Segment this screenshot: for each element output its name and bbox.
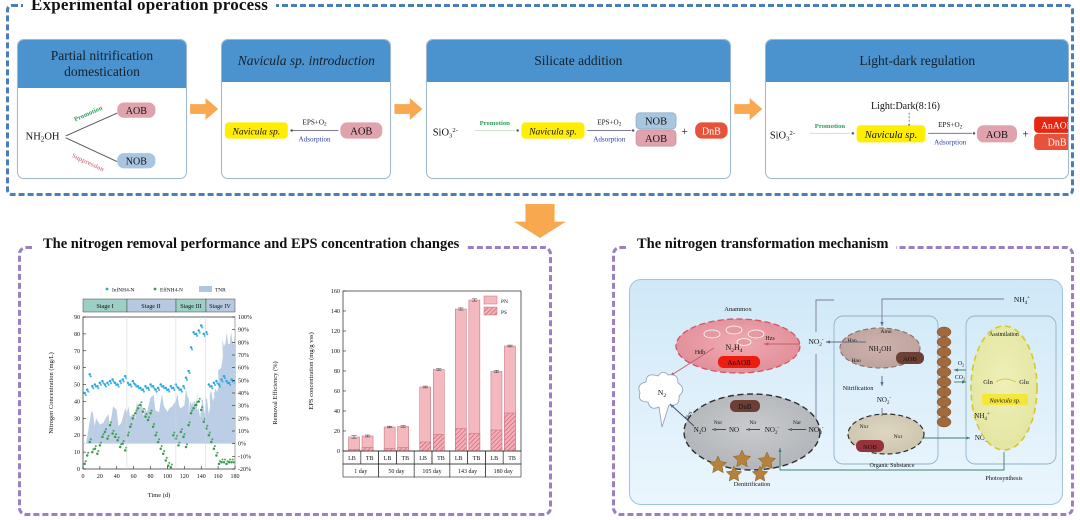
svg-text:0: 0 — [77, 467, 80, 473]
label-o2: O2 — [958, 361, 964, 368]
eps-concentration-chart[interactable]: LBTB1 dayLBTB50 dayLBTB105 dayLBTB143 da… — [299, 279, 541, 507]
svg-text:90: 90 — [74, 315, 80, 321]
denitrification-group: DnB N2O NO NO2- Nor Nir Nar Nos — [670, 394, 820, 488]
svg-text:90%: 90% — [238, 328, 249, 334]
svg-text:60: 60 — [334, 389, 340, 395]
label-light-dark: Light:Dark(8:16) — [871, 101, 940, 112]
step-header-navicula: Navicula sp. introduction — [222, 40, 390, 82]
svg-text:140: 140 — [197, 474, 206, 480]
mechanism-svg: Anammox N2H4 Hzs Hdh AnAOB N2 DnB N2O — [630, 280, 1063, 505]
svg-text:1 day: 1 day — [354, 469, 367, 475]
label-gln: Gln — [983, 379, 993, 386]
svg-text:160: 160 — [331, 289, 340, 295]
stage-label-2: Stage II — [141, 303, 160, 310]
svg-text:30%: 30% — [238, 404, 249, 410]
diagram-silicate-addition: SiO32- Promotion Navicula sp. EPS+O2 Ads… — [427, 84, 730, 176]
dot-1 — [516, 129, 518, 131]
label-denitrification: Denitrification — [734, 481, 770, 488]
stage-label-1: Stage I — [96, 303, 113, 310]
pill-dnb-mech-label: DnB — [738, 403, 752, 411]
label-nxr-2: Nxr — [894, 434, 903, 440]
svg-text:TB: TB — [508, 456, 516, 462]
arrow-nh4-to-nitrification — [882, 299, 1004, 326]
svg-text:20: 20 — [97, 474, 103, 480]
pill-aob-label: AOB — [126, 106, 147, 117]
process-step-light-dark-regulation[interactable]: Light-dark regulation Light:Dark(8:16) S… — [765, 39, 1069, 179]
svg-text:0%: 0% — [238, 442, 246, 448]
experimental-process-section: Experimental operation process Partial n… — [6, 4, 1074, 196]
step-title-line2: domestication — [51, 64, 153, 80]
svg-text:TB: TB — [401, 456, 409, 462]
svg-text:80: 80 — [74, 332, 80, 338]
plot-frame — [83, 317, 235, 469]
pill-dnb4-label: DnB — [1048, 138, 1067, 149]
svg-text:40: 40 — [114, 474, 120, 480]
svg-text:140: 140 — [331, 309, 340, 315]
label-adsorption-4: Adsorption — [935, 138, 968, 146]
svg-text:20: 20 — [74, 433, 80, 439]
svg-text:30: 30 — [74, 416, 80, 422]
svg-text:20%: 20% — [238, 416, 249, 422]
step-body-partial-nitrification: NH2OH Promotion Suppression AOB NOB — [18, 88, 186, 179]
mechanism-diagram[interactable]: Anammox N2H4 Hzs Hdh AnAOB N2 DnB N2O — [629, 279, 1063, 505]
y-axis-title-left: Nitrogen Concentration (mg/L) — [48, 352, 55, 434]
svg-text:143 day: 143 day — [458, 469, 477, 475]
svg-text:TB: TB — [366, 456, 374, 462]
bacteria-chain — [937, 327, 951, 427]
svg-text:-20%: -20% — [238, 467, 251, 473]
dot-4b — [973, 132, 975, 134]
step-title-silicate: Silicate addition — [534, 53, 622, 69]
svg-text:180: 180 — [231, 474, 240, 480]
process-arrow-1-container — [187, 98, 221, 120]
svg-text:80: 80 — [334, 369, 340, 375]
svg-text:40: 40 — [74, 399, 80, 405]
plus-sign-3: + — [681, 126, 687, 138]
label-no: NO — [729, 426, 739, 434]
label-glu: Glu — [1019, 379, 1029, 386]
legend-label-tnr: TNR — [215, 287, 226, 293]
step-title-line1: Partial nitrification — [51, 48, 153, 64]
label-hzs: Hzs — [765, 336, 775, 342]
label-eps-o2-3: EPS+O2 — [597, 118, 622, 127]
svg-text:100%: 100% — [238, 315, 252, 321]
process-step-navicula-introduction[interactable]: Navicula sp. introduction Navicula sp. E… — [221, 39, 391, 179]
svg-text:105 day: 105 day — [422, 469, 441, 475]
svg-text:TB: TB — [437, 456, 445, 462]
svg-text:70%: 70% — [238, 353, 249, 359]
anammox-group: Anammox N2H4 Hzs Hdh AnAOB — [670, 306, 800, 376]
label-nar: Nar — [793, 420, 801, 426]
svg-text:LB: LB — [455, 456, 463, 462]
label-adsorption-3: Adsorption — [593, 135, 626, 143]
svg-text:120: 120 — [180, 474, 189, 480]
step-title-lightdark: Light-dark regulation — [859, 53, 975, 69]
svg-text:-10%: -10% — [238, 454, 251, 460]
svg-text:160: 160 — [214, 474, 223, 480]
pill-navicula-mech-label: Navicula sp. — [989, 398, 1021, 405]
svg-text:LB: LB — [419, 456, 427, 462]
label-nir: Nir — [749, 420, 756, 426]
svg-text:120: 120 — [331, 329, 340, 335]
reaction-dot — [291, 129, 293, 131]
nitrification-group: NH2OH Amo Hao Hao AOB Nitrification NO2-… — [826, 316, 989, 464]
y-axis-title-right: Removal Efficiency (%) — [272, 361, 279, 424]
svg-text:40%: 40% — [238, 391, 249, 397]
plus-sign-4: + — [1023, 129, 1029, 141]
photosynthesis-group: Assimilation Gln Glu Navicula sp. NH4+ P… — [966, 316, 1056, 482]
svg-text:LB: LB — [348, 456, 356, 462]
svg-text:100: 100 — [163, 474, 172, 480]
svg-text:80%: 80% — [238, 340, 249, 346]
svg-text:LB: LB — [384, 456, 392, 462]
label-no2-center: NO2- — [808, 337, 823, 348]
process-arrow-3-container — [731, 98, 765, 120]
label-hao-1: Hao — [847, 338, 857, 344]
diagram-light-dark: Light:Dark(8:16) SiO32- Promotion Navicu… — [766, 84, 1068, 176]
svg-text:LB: LB — [490, 456, 498, 462]
step-body-silicate: SiO32- Promotion Navicula sp. EPS+O2 Ads… — [427, 82, 730, 178]
step-header-lightdark: Light-dark regulation — [766, 40, 1068, 82]
panel-title-removal: The nitrogen removal performance and EPS… — [35, 236, 467, 253]
pill-aob2-label: AOB — [351, 126, 373, 137]
step-title-navicula: Navicula sp. introduction — [238, 53, 375, 69]
diagram-partial-nitrification: NH2OH Promotion Suppression AOB NOB — [18, 88, 186, 179]
pill-aob3-label: AOB — [645, 134, 667, 145]
label-suppression: Suppression — [71, 152, 106, 173]
gas-exchange: O2 CO2 — [954, 361, 966, 382]
svg-text:180 day: 180 day — [494, 469, 513, 475]
flow-arrow-down-container — [514, 204, 566, 238]
svg-text:TB: TB — [473, 456, 481, 462]
label-adsorption: Adsorption — [299, 135, 332, 143]
label-co2: CO2 — [955, 375, 965, 382]
arrow-nh4-branch — [816, 300, 834, 332]
stage-band: Stage I Stage II Stage III Stage IV — [83, 299, 235, 312]
process-steps-row: Partial nitrification domestication NH2O… — [17, 35, 1069, 183]
reactant-sio3: SiO32- — [432, 127, 457, 140]
label-anammox: Anammox — [724, 306, 752, 313]
svg-text:100: 100 — [331, 349, 340, 355]
stage-label-4: Stage IV — [209, 303, 231, 310]
pill-navicula4-label: Navicula sp. — [864, 130, 917, 141]
label-nor: Nor — [714, 420, 722, 426]
label-amo: Amo — [880, 329, 891, 335]
label-hao-2: Hao — [851, 358, 861, 364]
svg-text:70: 70 — [74, 349, 80, 355]
label-promotion-silicate: Promotion — [479, 120, 510, 127]
flow-arrow-down-icon — [514, 204, 566, 238]
label-organic-substance: Organic Substance — [869, 463, 914, 469]
n2-cloud-group: N2 — [639, 372, 683, 427]
svg-text:80: 80 — [148, 474, 154, 480]
label-eps-o2: EPS+O2 — [303, 118, 328, 127]
legend-label-pn: PN — [501, 299, 508, 305]
pill-nob-label: NOB — [126, 157, 147, 168]
diagram-navicula-introduction: Navicula sp. EPS+O2 Adsorption AOB — [222, 84, 390, 176]
label-nh4-top: NH4+ — [1014, 295, 1030, 306]
bar-y-axis-title: EPS concentration (mg/g vss) — [308, 332, 315, 409]
step-header-partial-nitrification: Partial nitrification domestication — [18, 40, 186, 88]
reactant-nh2oh: NH2OH — [26, 132, 60, 144]
dot-4a — [852, 132, 854, 134]
step-body-lightdark: Light:Dark(8:16) SiO32- Promotion Navicu… — [766, 82, 1068, 178]
nitrogen-removal-panel: The nitrogen removal performance and EPS… — [18, 246, 552, 516]
process-step-silicate-addition[interactable]: Silicate addition SiO32- Promotion Navic… — [426, 39, 731, 179]
svg-text:60: 60 — [131, 474, 137, 480]
pill-nob3-label: NOB — [645, 117, 667, 128]
label-photosynthesis: Photosynthesis — [985, 475, 1023, 482]
reactant-sio3-4: SiO32- — [770, 130, 795, 143]
pill-anaob-label: AnAOB — [1042, 121, 1068, 132]
label-assimilation: Assimilation — [989, 332, 1019, 338]
svg-text:10%: 10% — [238, 429, 249, 435]
label-nitrification: Nitrification — [843, 385, 874, 392]
svg-text:0: 0 — [82, 474, 85, 480]
pill-nob-mech-label: NOB — [863, 444, 878, 451]
stage-label-3: Stage III — [180, 303, 201, 310]
x-axis-title: Time (d) — [148, 492, 171, 499]
legend-label-inf: InfNH4-N — [112, 286, 135, 293]
pill-navicula-label: Navicula sp. — [232, 126, 281, 137]
section-title-experimental: Experimental operation process — [23, 0, 276, 15]
svg-text:50: 50 — [74, 383, 80, 389]
process-arrow-1-icon — [190, 98, 218, 120]
svg-text:60: 60 — [74, 366, 80, 372]
pill-dnb3-label: DnB — [702, 126, 721, 137]
svg-text:40: 40 — [334, 409, 340, 415]
label-eps-o2-4: EPS+O2 — [939, 121, 964, 130]
step-body-navicula: Navicula sp. EPS+O2 Adsorption AOB — [222, 82, 390, 178]
svg-text:0: 0 — [337, 449, 340, 455]
pill-navicula3-label: Navicula sp. — [528, 126, 577, 137]
process-arrow-2-icon — [394, 98, 422, 120]
process-arrow-2-container — [391, 98, 425, 120]
nitrogen-removal-chart[interactable]: InfNH4-N EffNH4-N TNR Stage I Stage II S… — [41, 279, 289, 507]
process-arrow-3-icon — [734, 98, 762, 120]
svg-text:10: 10 — [74, 450, 80, 456]
label-nxr-1: Nxr — [860, 424, 869, 430]
pill-aob4-label: AOB — [986, 130, 1008, 141]
line-chart-legend: InfNH4-N EffNH4-N TNR — [106, 286, 227, 293]
svg-text:50 day: 50 day — [388, 469, 404, 475]
svg-text:50%: 50% — [238, 378, 249, 384]
svg-text:60%: 60% — [238, 366, 249, 372]
legend-label-eff: EffNH4-N — [160, 286, 183, 293]
panel-title-mechanism: The nitrogen transformation mechanism — [629, 236, 896, 253]
dot-2 — [632, 129, 634, 131]
label-no2-nitrif: NO2- — [877, 396, 892, 406]
pill-anaob-mech-label: AnAOB — [727, 359, 751, 367]
svg-text:20: 20 — [334, 429, 340, 435]
label-promotion-4: Promotion — [815, 123, 846, 130]
legend-label-ps: PS — [501, 310, 507, 316]
step-header-silicate: Silicate addition — [427, 40, 730, 82]
pill-aob-mech-label: AOB — [903, 356, 918, 363]
nitrogen-mechanism-panel: The nitrogen transformation mechanism — [612, 246, 1074, 516]
process-step-partial-nitrification[interactable]: Partial nitrification domestication NH2O… — [17, 39, 187, 179]
